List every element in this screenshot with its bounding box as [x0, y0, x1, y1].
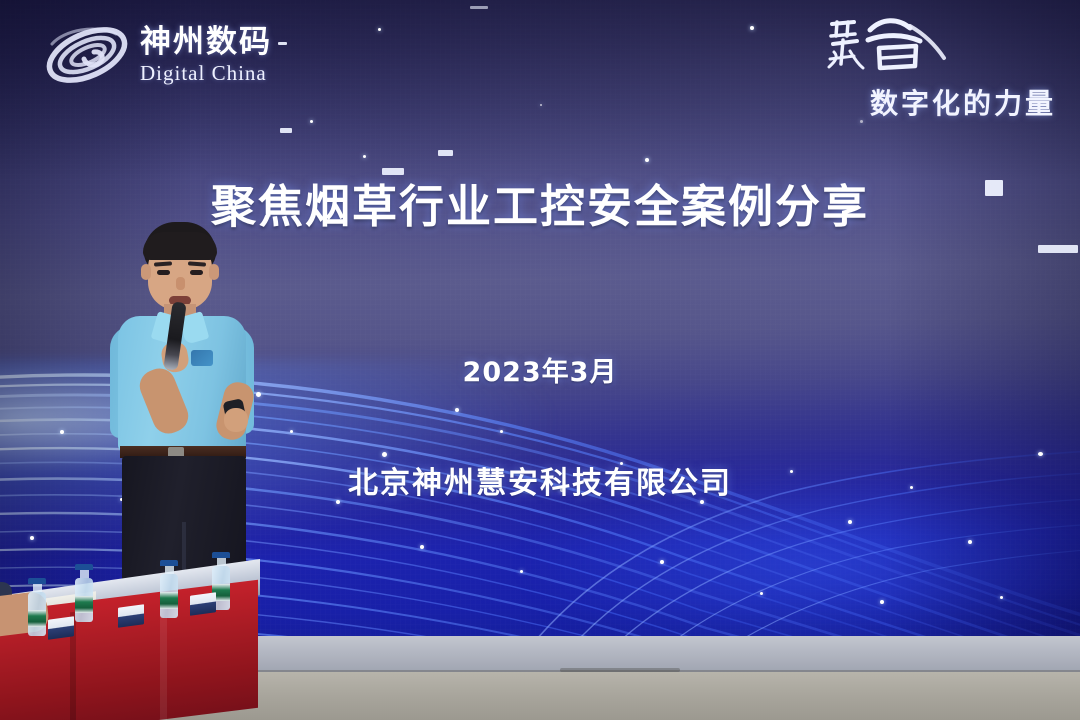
- speaker-nose: [176, 277, 185, 290]
- name-tent-face: [190, 592, 216, 616]
- spiral-swirl-icon: [42, 18, 132, 92]
- bottle-body: [75, 578, 93, 622]
- bottle-body: [160, 574, 178, 618]
- foreground-table: [0, 560, 262, 720]
- speaker-eye-right: [190, 270, 203, 275]
- name-tent-face: [118, 604, 144, 628]
- bottle-neck: [80, 570, 89, 578]
- name-tent: [48, 618, 74, 638]
- bottle-label: [75, 596, 93, 613]
- name-tent-face: [48, 616, 74, 640]
- digital-china-chinese: 神州数码: [140, 27, 272, 58]
- event-logo-tagline: 数字化的力量: [806, 82, 1056, 122]
- speaker-hairline: [143, 232, 217, 260]
- bottle-label: [28, 610, 46, 627]
- bottle-body: [28, 592, 46, 636]
- screenshot-root: 聚焦烟草行业工控安全案例分享 2023年3月 北京神州慧安科技有限公司 神州数码…: [0, 0, 1080, 720]
- digital-china-wordmark: 神州数码 Digital China: [140, 27, 272, 84]
- water-bottle: [75, 564, 93, 622]
- digital-china-english: Digital China: [140, 63, 272, 84]
- name-tent: [118, 606, 144, 626]
- event-logo: 数字化的力量: [796, 14, 1056, 114]
- bottle-label: [160, 592, 178, 609]
- digital-china-logo: 神州数码 Digital China: [42, 18, 272, 92]
- water-bottle: [28, 578, 46, 636]
- speaker-ear-left: [141, 264, 151, 280]
- speaker-chest-logo: [191, 350, 213, 366]
- bottle-neck: [165, 566, 174, 574]
- calligraphy-juhe-icon: [824, 14, 954, 76]
- speaker-hand-right: [224, 408, 248, 432]
- speaker-eye-left: [157, 270, 170, 275]
- tablecloth-highlight: [160, 604, 167, 720]
- floor-marking: [560, 668, 680, 672]
- water-bottle: [160, 560, 178, 618]
- name-tent: [190, 594, 216, 614]
- bottle-neck: [217, 558, 226, 566]
- bottle-neck: [33, 584, 42, 592]
- speaker-ear-right: [209, 264, 219, 280]
